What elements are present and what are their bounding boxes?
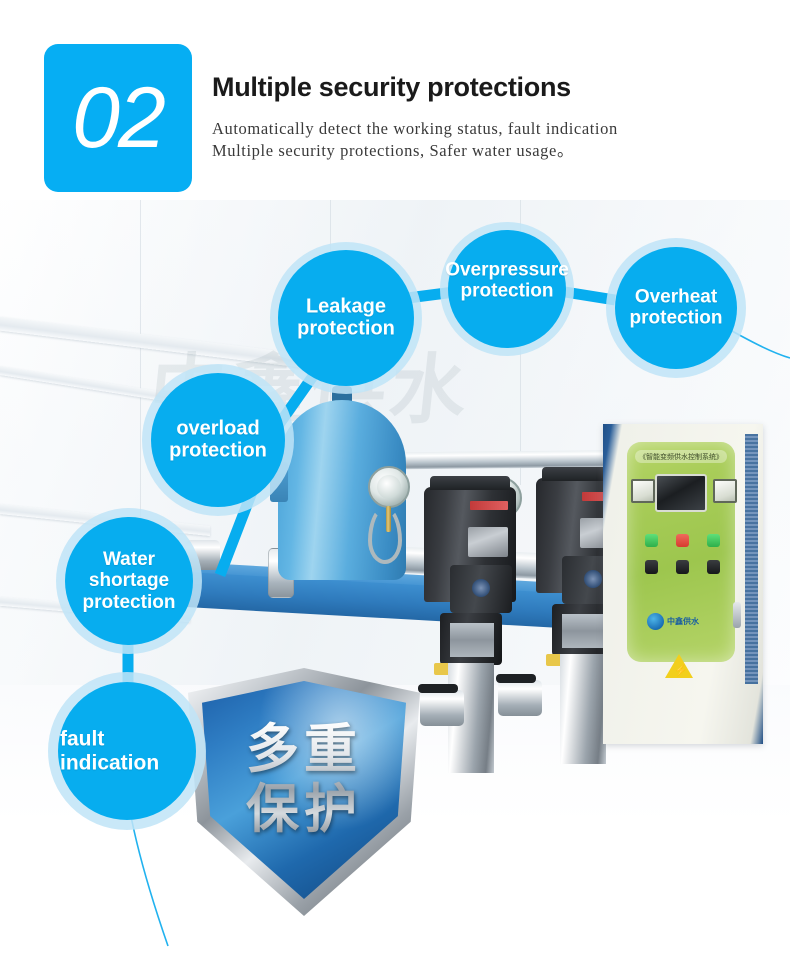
indicator-lamp-fault (676, 534, 689, 547)
pressure-gauge (368, 466, 410, 508)
subtitle-line-1: Automatically detect the working status,… (212, 118, 787, 140)
page-title: Multiple security protections (212, 72, 571, 103)
indicator-lamp-power (707, 534, 720, 547)
node-overheat-protection[interactable]: Overheat protection (606, 238, 746, 378)
control-button-1[interactable] (645, 560, 658, 574)
node-label: Overheat protection (576, 287, 776, 330)
cabinet-system-label: 《智能变频供水控制系统》 (635, 450, 727, 463)
node-label: fault indication (60, 727, 240, 774)
motor-cap (430, 476, 510, 490)
cabinet-door-handle[interactable] (733, 602, 741, 628)
motor-nameplate (468, 527, 508, 557)
pump-stage-plate (450, 623, 494, 657)
node-label: Water shortage protection (26, 549, 232, 613)
valve-handle (496, 674, 536, 683)
node-label: overload protection (112, 418, 324, 463)
subtitle-line-2: Multiple security protections, Safer wat… (212, 140, 787, 162)
gate-valve (498, 680, 542, 716)
node-overpressure-protection[interactable]: Overpressure protection (440, 222, 574, 356)
pump-badge (472, 579, 490, 597)
gauge-face (377, 475, 401, 499)
hazard-bolt-glyph: ⚡ (674, 666, 688, 677)
control-button-2[interactable] (676, 560, 689, 574)
step-number: 02 (44, 44, 192, 192)
logo-mark-icon (647, 613, 664, 630)
pump-badge (584, 570, 602, 588)
gate-valve (420, 690, 464, 726)
node-overload-protection[interactable]: overload protection (142, 364, 294, 516)
node-fault-indication[interactable]: fault indication (48, 672, 206, 830)
control-cabinet: 《智能变频供水控制系统》 中鑫供水 ⚡ (603, 424, 763, 744)
cabinet-vent-grille (745, 434, 758, 684)
pump-stage-plate (562, 614, 606, 648)
indicator-lamp-run (645, 534, 658, 547)
control-button-3[interactable] (707, 560, 720, 574)
valve-handle (418, 684, 458, 693)
shield-line-2: 保护 (188, 780, 420, 840)
hmi-touchscreen[interactable] (655, 474, 707, 512)
page-subtitle: Automatically detect the working status,… (212, 118, 787, 162)
multiple-protection-shield: 多重 保护 (188, 668, 420, 916)
pump-shaft-column (560, 654, 606, 764)
node-label: Leakage protection (240, 296, 452, 341)
step-number-badge: 02 (44, 44, 192, 192)
cabinet-meter-right (713, 479, 737, 503)
product-feature-page: 中鑫供水 (0, 0, 790, 962)
cabinet-meter-left (631, 479, 655, 503)
logo-text: 中鑫供水 (667, 616, 699, 627)
motor-brand-label (470, 501, 508, 510)
node-water-shortage-protection[interactable]: Water shortage protection (56, 508, 202, 654)
brand-logo: 中鑫供水 (647, 610, 717, 632)
node-label: Overpressure protection (410, 260, 604, 303)
